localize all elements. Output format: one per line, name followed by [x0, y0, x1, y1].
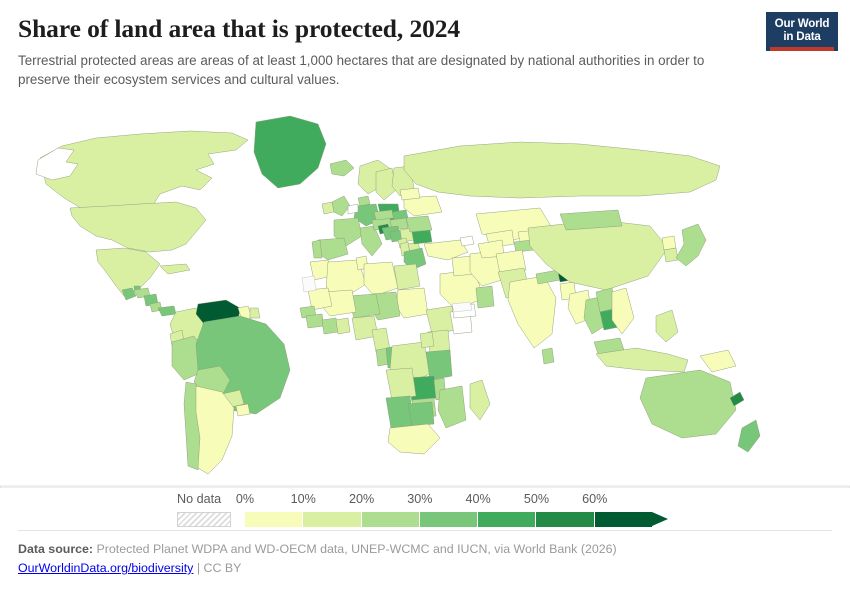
map-country-sri-lanka[interactable]: Sri Lanka: 29%: [542, 348, 554, 364]
map-country-netherlands[interactable]: Netherlands: [348, 204, 358, 214]
owid-logo[interactable]: Our World in Data: [766, 12, 838, 51]
map-country-uruguay[interactable]: Uruguay: 3%: [236, 404, 250, 416]
legend-bin-1[interactable]: [303, 512, 360, 527]
page-title: Share of land area that is protected, 20…: [18, 14, 832, 43]
map-svg: Canada: 13.6%AlaskaUnited States: 13%Mex…: [0, 98, 850, 488]
map-country-belarus[interactable]: Belarus: 9%: [400, 188, 420, 200]
map-country-papua-new-guinea[interactable]: Papua New Guinea: 3.5%: [700, 350, 736, 372]
chart-header: Share of land area that is protected, 20…: [0, 0, 850, 89]
legend-tick-6: 60%: [582, 492, 607, 506]
chart-footer: Data source: Protected Planet WDPA and W…: [18, 530, 832, 578]
legend-bin-5[interactable]: [536, 512, 593, 527]
map-country-denmark[interactable]: Denmark: 20%: [358, 196, 370, 206]
map-country-ghana[interactable]: Ghana: 15%: [336, 318, 350, 334]
legend-bin-6[interactable]: [595, 512, 652, 527]
owid-map-chart: Share of land area that is protected, 20…: [0, 0, 850, 600]
owid-logo-line2: in Data: [770, 30, 834, 43]
map-country-egypt[interactable]: Egypt: 13%: [394, 264, 420, 290]
legend-open-ended-arrow: [652, 512, 668, 526]
map-country-uganda[interactable]: Uganda: 16%: [420, 332, 434, 348]
legend-no-data-swatch[interactable]: [177, 512, 231, 527]
legend-tick-4: 40%: [466, 492, 491, 506]
map-country-japan[interactable]: Japan: 29%: [676, 224, 706, 266]
legend-color-bar[interactable]: [245, 512, 669, 527]
footer-separator: |: [197, 561, 200, 575]
map-country-philippines[interactable]: Philippines: 19%: [656, 310, 678, 342]
owid-logo-rule: [770, 47, 834, 51]
map-country-sudan[interactable]: Sudan: 4%: [396, 288, 428, 318]
map-country-nodata-western-sahara[interactable]: [302, 276, 316, 292]
footer-divider: [18, 530, 832, 531]
map-country-india[interactable]: India: 8%: [508, 276, 556, 348]
map-country-cuba[interactable]: Cuba: 17%: [160, 264, 190, 274]
map-country-south-africa[interactable]: South Africa: 8.5%: [388, 424, 440, 454]
map-country-botswana[interactable]: Botswana: 37%: [408, 402, 434, 426]
legend-bin-4[interactable]: [478, 512, 535, 527]
footer-link-line: OurWorldinData.org/biodiversity | CC BY: [18, 559, 832, 578]
legend-tick-1: 10%: [291, 492, 316, 506]
map-country-nepal[interactable]: Nepal: 24%: [536, 270, 560, 284]
legend-tick-2: 20%: [349, 492, 374, 506]
map-country-iceland[interactable]: Iceland: 22%: [330, 160, 354, 176]
map-country-united-states[interactable]: United States: 13%: [70, 202, 206, 252]
map-country-portugal[interactable]: Portugal: 22%: [312, 240, 322, 258]
map-country-libya[interactable]: Libya: 1%: [364, 262, 398, 296]
legend-no-data-label: No data: [177, 492, 221, 506]
map-country-suriname[interactable]: Suriname: 14%: [250, 308, 260, 318]
map-country-greenland[interactable]: Greenland: 44%: [254, 116, 326, 188]
map-country-panama[interactable]: Panama: 30%: [158, 306, 176, 316]
data-source-text: Protected Planet WDPA and WD-OECM data, …: [97, 542, 617, 556]
map-country-south-korea[interactable]: South Korea: 17%: [664, 248, 678, 262]
map-country-australia[interactable]: Australia: 22%: [640, 370, 736, 438]
map-country-madagascar[interactable]: Madagascar: 12%: [470, 380, 490, 420]
map-country-nodata-antarctica-sliver[interactable]: [0, 486, 850, 488]
map-country-mozambique[interactable]: Mozambique: 26%: [438, 386, 466, 428]
map-country-ireland[interactable]: Ireland: 14%: [322, 202, 334, 214]
legend-bin-0[interactable]: [245, 512, 302, 527]
map-country-russia[interactable]: Russia: 11%: [404, 142, 720, 198]
owid-url-link[interactable]: OurWorldinData.org/biodiversity: [18, 561, 193, 575]
legend-bin-2[interactable]: [362, 512, 419, 527]
map-country-georgia[interactable]: Georgia: [460, 236, 474, 246]
map-country-new-zealand[interactable]: New Zealand: 33%: [738, 420, 760, 452]
map-country-romania[interactable]: Romania: 24%: [406, 216, 432, 232]
map-country-ivory-coast[interactable]: Ivory Coast: 23%: [322, 318, 338, 334]
map-country-tanzania[interactable]: Tanzania: 38%: [426, 350, 452, 380]
map-country-guinea[interactable]: Guinea: 28%: [306, 314, 324, 328]
legend-tick-0: 0%: [236, 492, 254, 506]
data-source-line: Data source: Protected Planet WDPA and W…: [18, 540, 832, 559]
map-country-nodata-somaliland[interactable]: [452, 302, 472, 312]
legend-tick-3: 30%: [407, 492, 432, 506]
map-country-angola[interactable]: Angola: 13%: [386, 368, 416, 400]
map-country-italy[interactable]: Italy: 21%: [360, 226, 382, 256]
chart-subtitle: Terrestrial protected areas are areas of…: [18, 51, 730, 89]
map-country-czechia[interactable]: Czechia: 22%: [374, 210, 394, 220]
map-country-united-kingdom[interactable]: United Kingdom: 28%: [332, 196, 350, 216]
license-label: CC BY: [204, 561, 242, 575]
data-source-label: Data source:: [18, 542, 93, 556]
map-country-bulgaria[interactable]: Bulgaria: 41%: [412, 230, 432, 244]
legend-tick-5: 50%: [524, 492, 549, 506]
map-country-north-korea[interactable]: North Korea: 3%: [662, 236, 676, 250]
legend-bin-3[interactable]: [420, 512, 477, 527]
world-choropleth-map[interactable]: Canada: 13.6%AlaskaUnited States: 13%Mex…: [0, 98, 850, 488]
map-country-oman[interactable]: Oman: 25%: [476, 286, 494, 308]
owid-logo-line1: Our World: [770, 17, 834, 30]
